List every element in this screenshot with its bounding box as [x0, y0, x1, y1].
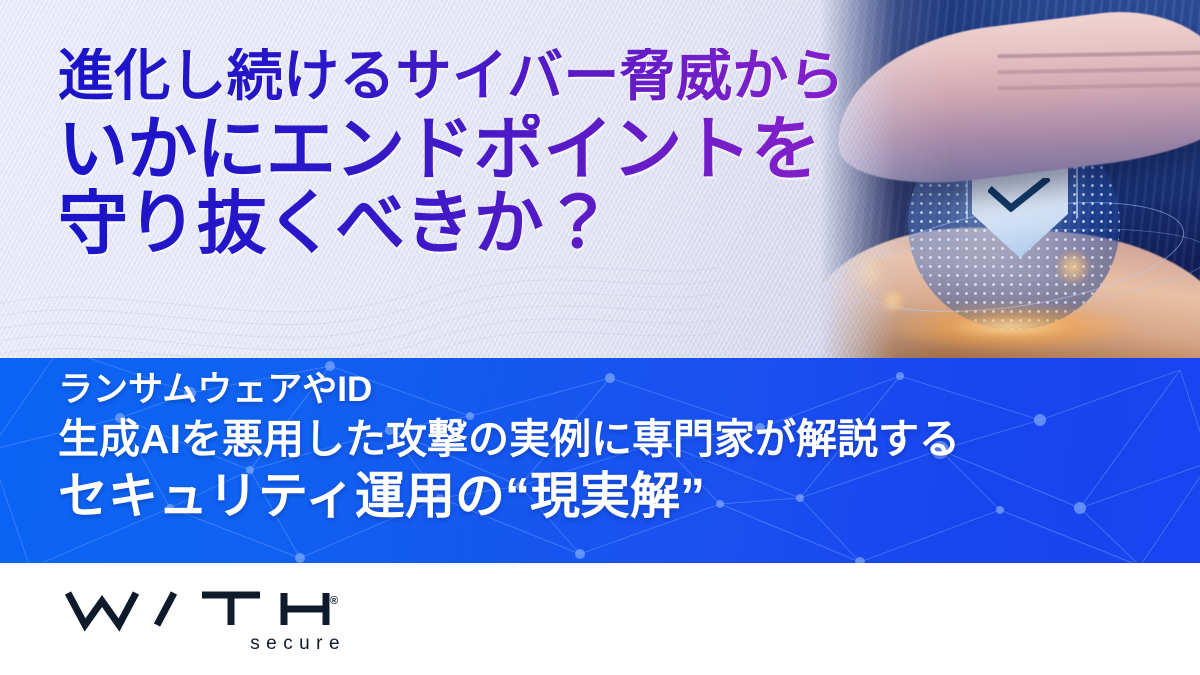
- bokeh-light: [848, 252, 888, 292]
- headline-line-2: いかにエンドポイントを: [58, 114, 958, 184]
- withsecure-logo: ® secure: [62, 585, 352, 655]
- subtitle-line-1: ランサムウェアやID: [58, 372, 960, 407]
- checkmark-icon: [988, 178, 1050, 212]
- subtitle-band: ランサムウェアやID 生成AIを悪用した攻撃の実例に専門家が解説する セキュリテ…: [0, 358, 1200, 563]
- withsecure-sub-wordmark: secure: [250, 633, 346, 655]
- footer-bar: ® secure WEBINAR 2025 7/22 火 14:00−15:00…: [0, 563, 1200, 675]
- bokeh-light: [1056, 250, 1090, 284]
- trademark-symbol: ®: [330, 595, 338, 607]
- hero-section: 進化し続けるサイバー脅威から いかにエンドポイントを 守り抜くべきか？: [0, 0, 1200, 358]
- webinar-banner: 進化し続けるサイバー脅威から いかにエンドポイントを 守り抜くべきか？: [0, 0, 1200, 675]
- headline-line-3: 守り抜くべきか？: [58, 188, 958, 258]
- withsecure-wordmark-icon: [62, 585, 340, 633]
- subtitle-line-2: 生成AIを悪用した攻撃の実例に専門家が解説する: [58, 419, 960, 460]
- hand-crease: [997, 51, 1200, 59]
- bokeh-light: [880, 288, 906, 314]
- headline-line-1: 進化し続けるサイバー脅威から: [58, 48, 958, 104]
- subtitle-line-3: セキュリティ運用の“現実解”: [58, 471, 960, 521]
- subtitle-text: ランサムウェアやID 生成AIを悪用した攻撃の実例に専門家が解説する セキュリテ…: [58, 372, 960, 521]
- page-title: 進化し続けるサイバー脅威から いかにエンドポイントを 守り抜くべきか？: [58, 48, 958, 258]
- lens-flare: [880, 302, 1140, 352]
